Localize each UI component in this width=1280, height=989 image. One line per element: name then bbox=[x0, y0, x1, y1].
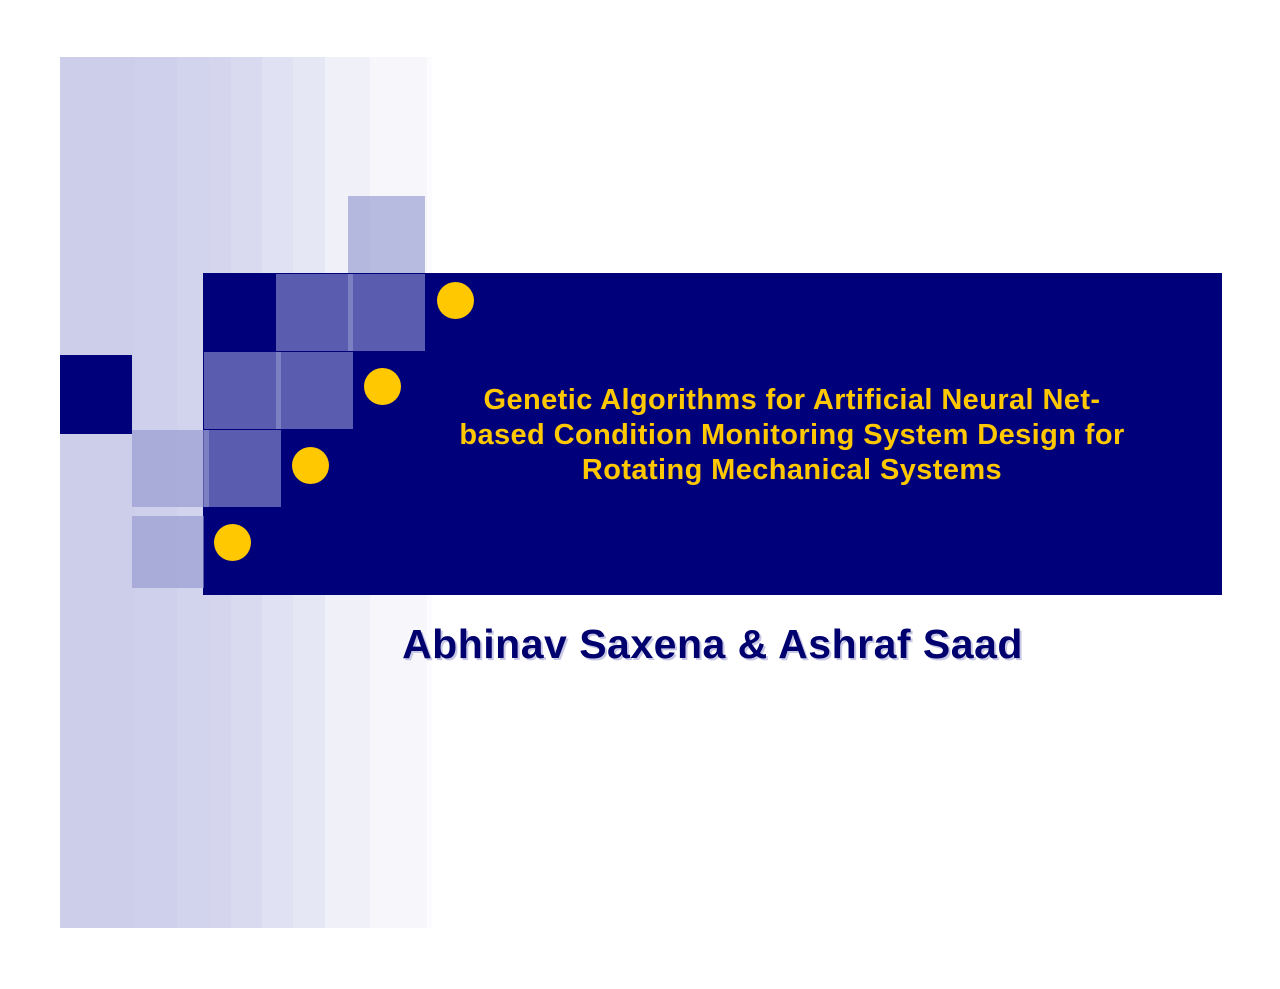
author-names: Abhinav Saxena & Ashraf Saad bbox=[402, 619, 1023, 669]
decorative-square bbox=[348, 274, 425, 351]
bullet-dot-icon bbox=[437, 282, 474, 319]
title-line-2: based Condition Monitoring System Design… bbox=[392, 418, 1192, 453]
decorative-square bbox=[204, 352, 281, 429]
slide-title: Genetic Algorithms for Artificial Neural… bbox=[392, 383, 1192, 488]
decorative-square bbox=[132, 430, 209, 507]
title-line-3: Rotating Mechanical Systems bbox=[392, 453, 1192, 488]
bullet-dot-icon bbox=[214, 524, 251, 561]
decorative-square bbox=[276, 274, 353, 351]
decorative-square bbox=[204, 430, 281, 507]
title-slide: Genetic Algorithms for Artificial Neural… bbox=[0, 0, 1280, 989]
navy-accent-square bbox=[60, 355, 132, 434]
slide-authors: Abhinav Saxena & Ashraf Saad bbox=[203, 619, 1222, 669]
bullet-dot-icon bbox=[292, 447, 329, 484]
decorative-square bbox=[132, 516, 204, 588]
decorative-square bbox=[348, 196, 425, 273]
background-stripe bbox=[60, 57, 135, 928]
decorative-square bbox=[276, 352, 353, 429]
title-line-1: Genetic Algorithms for Artificial Neural… bbox=[392, 383, 1192, 418]
